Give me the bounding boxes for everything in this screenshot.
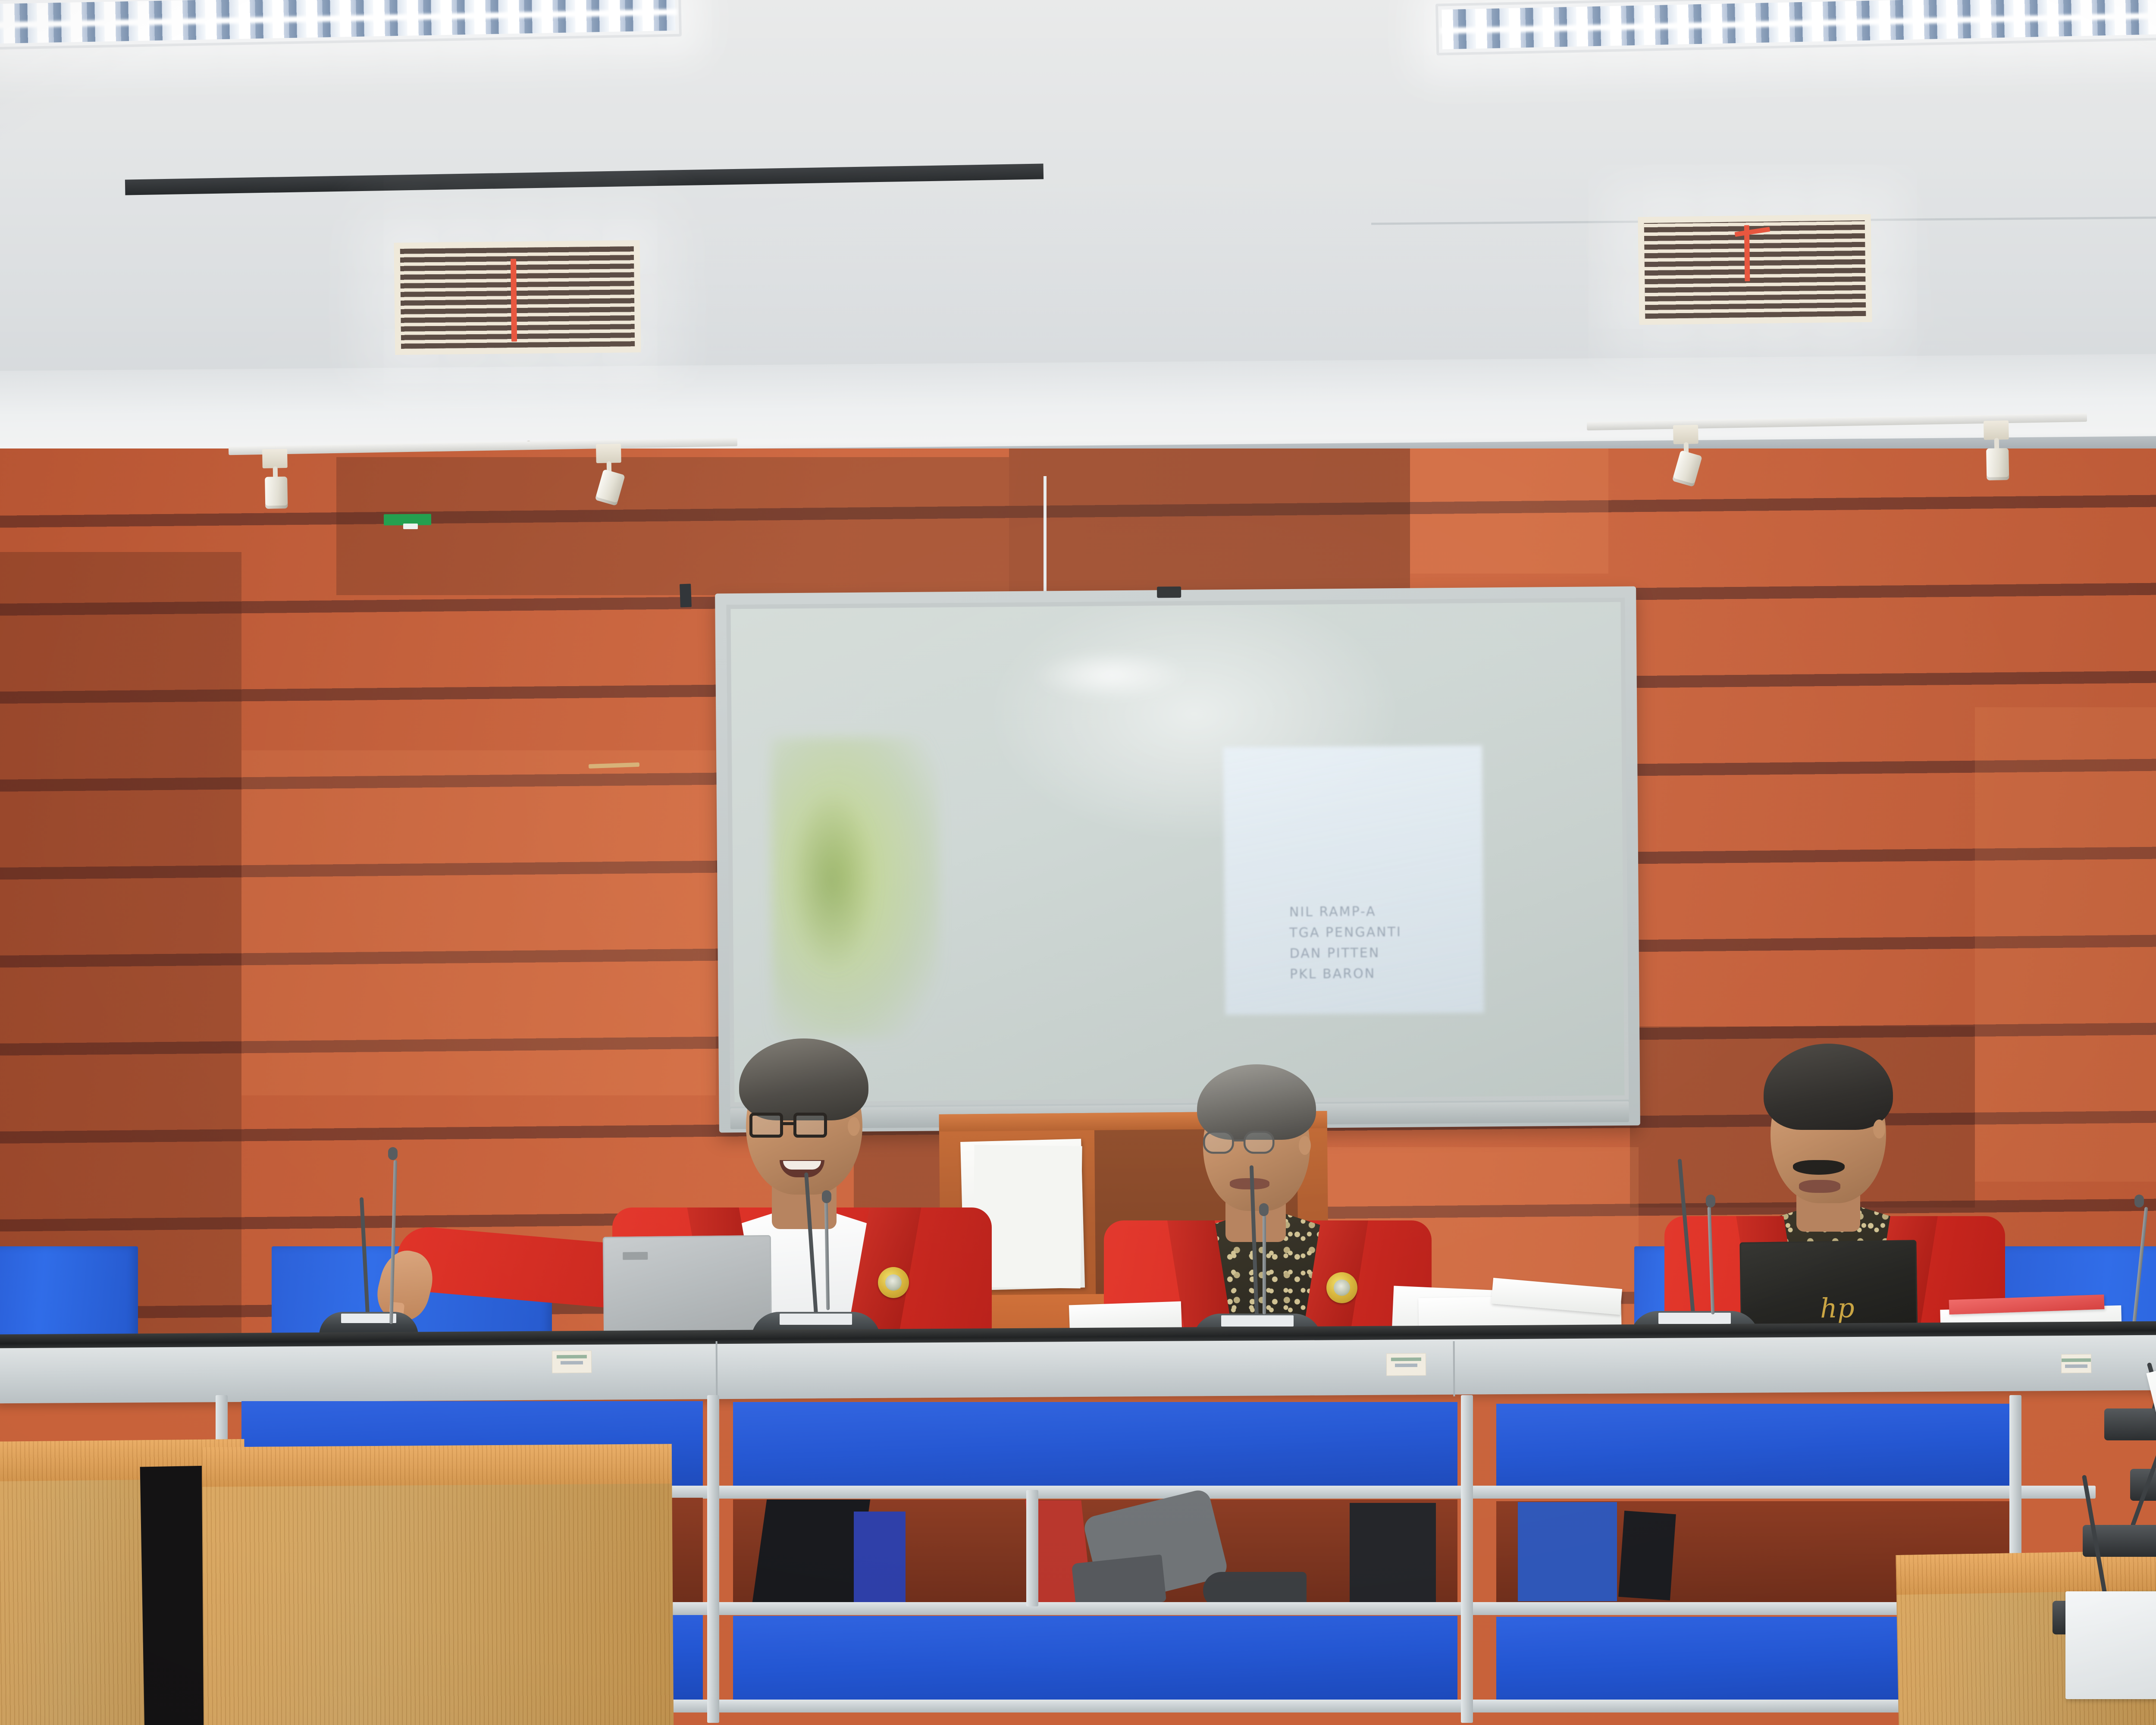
dais-asset-tag bbox=[552, 1351, 592, 1374]
whiteboard-surface[interactable]: NIL RAMP-A TGA PENGANTI DAN PITTEN PKL B… bbox=[726, 598, 1629, 1107]
projection-left-core bbox=[788, 789, 876, 971]
fluorescent-troffer-left-icon bbox=[0, 0, 682, 51]
handwriting-line: PKL BARON bbox=[1290, 963, 1462, 985]
laptop-brand-mark bbox=[623, 1252, 648, 1260]
bench-post bbox=[1461, 1395, 1473, 1723]
chair-back[interactable] bbox=[0, 1246, 138, 1339]
auditorium-scene: NIL RAMP-A TGA PENGANTI DAN PITTEN PKL B… bbox=[0, 0, 2156, 1725]
panelist-left-badge bbox=[878, 1267, 909, 1298]
attendee-leg bbox=[854, 1512, 906, 1602]
bench-pad[interactable] bbox=[733, 1402, 1457, 1488]
panelist-center-ear bbox=[1299, 1136, 1311, 1155]
dais-asset-tag bbox=[1386, 1353, 1426, 1376]
wall-switch-plate[interactable] bbox=[680, 584, 692, 608]
dais-asset-tag bbox=[2061, 1354, 2091, 1373]
attendee-leg bbox=[1350, 1503, 1436, 1605]
attendee-leg bbox=[751, 1499, 871, 1612]
bench-pad[interactable] bbox=[733, 1616, 1457, 1702]
fluorescent-troffer-right-icon bbox=[1435, 0, 2156, 56]
gooseneck-microphone-1[interactable] bbox=[319, 1294, 418, 1337]
attendee-leg bbox=[1618, 1511, 1676, 1600]
hp-logo-icon: hp bbox=[1820, 1295, 1855, 1322]
bench-pad[interactable] bbox=[1496, 1404, 2009, 1490]
hvac-grille-right-icon bbox=[1638, 214, 1872, 325]
panelist-right-mustache bbox=[1793, 1160, 1845, 1175]
handwriting-line: DAN PITTEN bbox=[1290, 942, 1462, 964]
panelist-left-teeth bbox=[783, 1161, 821, 1170]
bench-post bbox=[1026, 1490, 1038, 1606]
panelist-center-badge bbox=[1326, 1272, 1357, 1303]
wooden-lectern[interactable] bbox=[202, 1444, 674, 1725]
whiteboard-glare bbox=[1033, 649, 1188, 702]
panelist-right-ear bbox=[1873, 1120, 1885, 1138]
ceiling-beam bbox=[125, 163, 1044, 195]
white-equipment-box[interactable] bbox=[2065, 1591, 2156, 1699]
ceiling bbox=[0, 0, 2156, 470]
whiteboard[interactable]: NIL RAMP-A TGA PENGANTI DAN PITTEN PKL B… bbox=[715, 586, 1640, 1133]
attendee-leg bbox=[1518, 1502, 1617, 1601]
bench-post bbox=[707, 1395, 719, 1723]
screen-hanger-rod bbox=[1044, 476, 1047, 593]
whiteboard-handwriting: NIL RAMP-A TGA PENGANTI DAN PITTEN PKL B… bbox=[1289, 901, 1462, 984]
laptop-silver[interactable] bbox=[603, 1235, 772, 1337]
handwriting-line: NIL RAMP-A bbox=[1289, 901, 1462, 923]
whiteboard-top-clip bbox=[1157, 586, 1181, 598]
whiteboard-tray-chip bbox=[403, 524, 418, 529]
panelist-left-ear bbox=[848, 1117, 860, 1136]
panelist-right-mouth bbox=[1799, 1180, 1840, 1193]
hvac-grille-left-icon bbox=[394, 240, 641, 355]
handwriting-line: TGA PENGANTI bbox=[1289, 922, 1462, 944]
